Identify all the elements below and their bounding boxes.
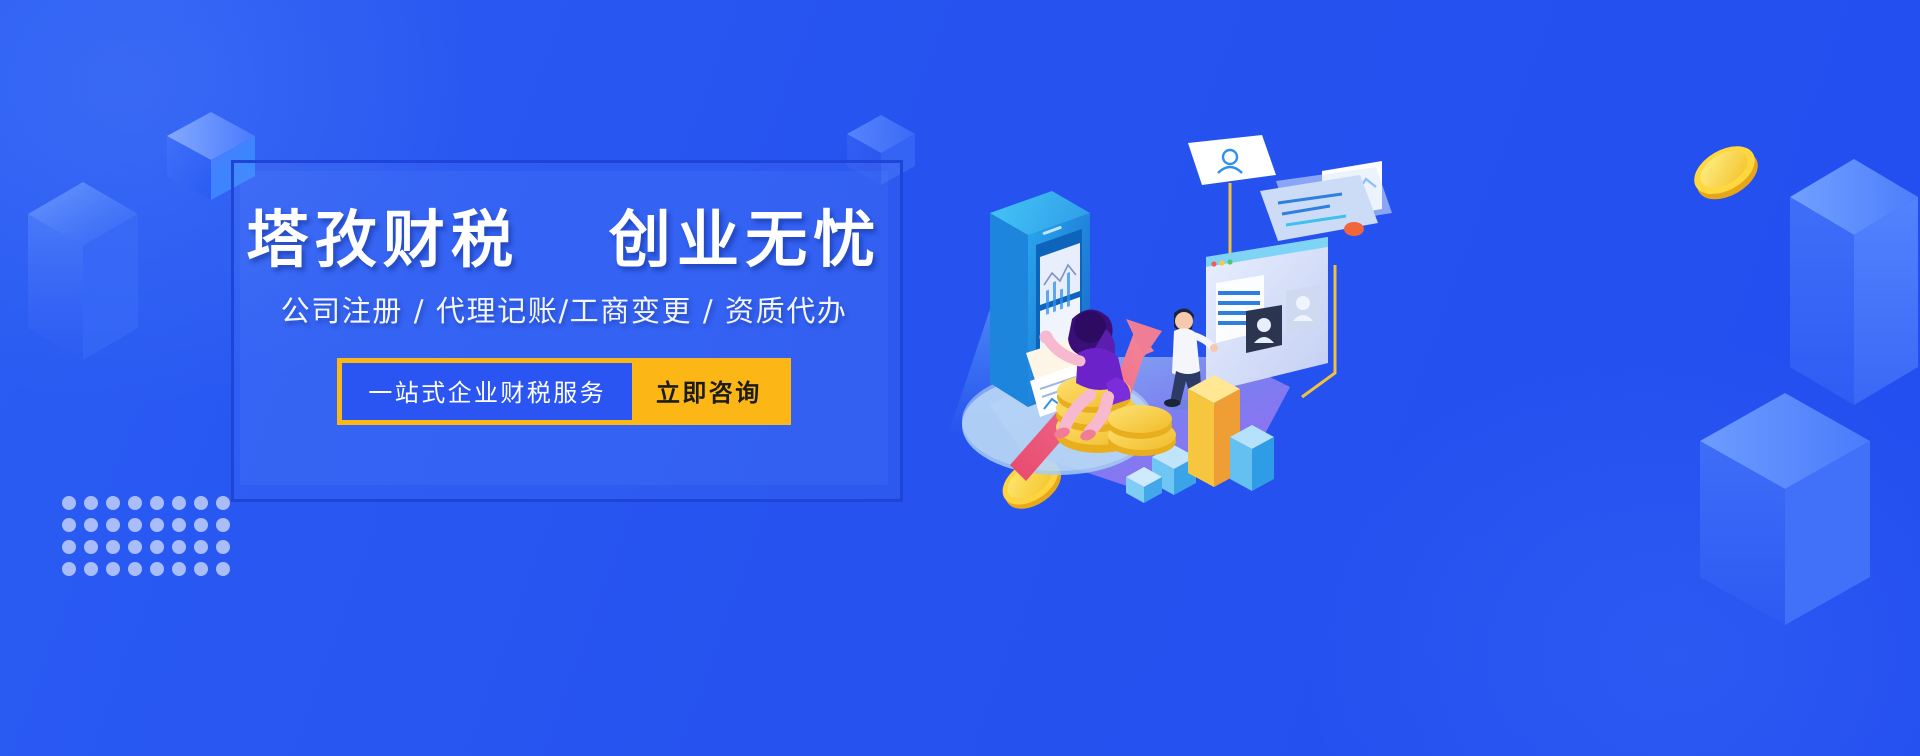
contact-card <box>1188 135 1276 185</box>
page-title: 塔孜财税 创业无忧 <box>246 207 881 274</box>
banner-content: 塔孜财税 创业无忧 公司注册 / 代理记账/工商变更 / 资质代办 一站式企业财… <box>240 171 888 485</box>
dashboard-window <box>1206 237 1328 393</box>
prism-left-edge <box>28 180 138 390</box>
fintech-illustration <box>930 105 1400 505</box>
services-subtitle: 公司注册 / 代理记账/工商变更 / 资质代办 <box>281 296 848 328</box>
prism-right-tall <box>1790 155 1920 445</box>
promo-banner: 塔孜财税 创业无忧 公司注册 / 代理记账/工商变更 / 资质代办 一站式企业财… <box>0 0 1920 756</box>
gold-coin-right <box>1687 137 1763 205</box>
cta-button-group: 一站式企业财税服务 立即咨询 <box>337 358 790 425</box>
service-tag-button[interactable]: 一站式企业财税服务 <box>342 363 632 420</box>
headline-part-2: 创业无忧 <box>609 203 882 276</box>
headline-part-1: 塔孜财税 <box>246 203 519 276</box>
prism-right-low <box>1700 385 1870 635</box>
dot-grid-pattern <box>62 496 238 584</box>
credit-card <box>1260 167 1392 241</box>
consult-now-button[interactable]: 立即咨询 <box>632 363 786 420</box>
